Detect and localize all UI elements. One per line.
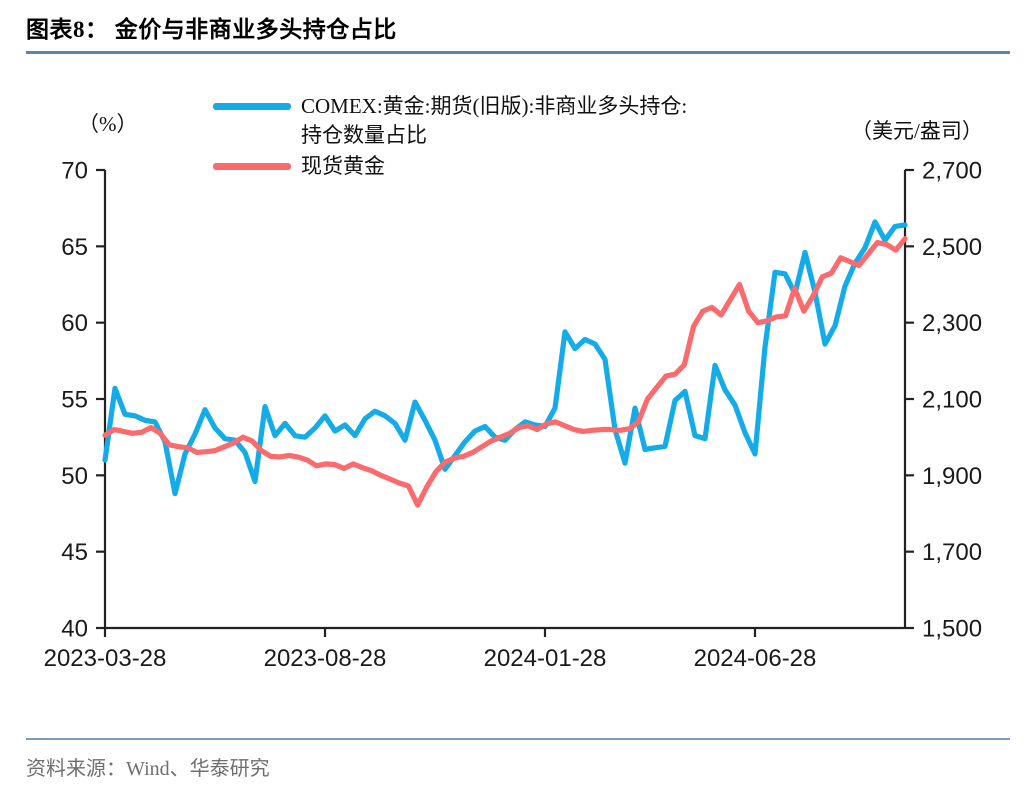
left-axis-tick-label: 55 — [61, 387, 88, 414]
left-axis-tick-label: 60 — [61, 310, 88, 337]
chart-header: 图表8： 金价与非商业多头持仓占比 — [26, 10, 1010, 54]
right-axis-tick-label: 1,500 — [922, 616, 982, 643]
series-line — [105, 222, 905, 494]
x-axis-tick-label: 2023-08-28 — [264, 645, 387, 672]
chart-plot-area: （%） （美元/盎司） COMEX:黄金:期货(旧版):非商业多头持仓: 持仓数… — [0, 60, 1036, 680]
page-title: 图表8： 金价与非商业多头持仓占比 — [26, 10, 1010, 44]
left-axis-tick-label: 65 — [61, 234, 88, 261]
x-axis-tick-label: 2024-01-28 — [484, 645, 607, 672]
chart-svg: 404550556065701,5001,7001,9002,1002,3002… — [0, 60, 1036, 680]
footer-divider — [26, 738, 1010, 740]
axis-layer: 404550556065701,5001,7001,9002,1002,3002… — [44, 158, 982, 673]
left-axis-tick-label: 70 — [61, 158, 88, 185]
series-layer — [105, 222, 905, 505]
right-axis-tick-label: 2,500 — [922, 234, 982, 261]
right-axis-tick-label: 2,700 — [922, 158, 982, 185]
source-note: 资料来源：Wind、华泰研究 — [26, 752, 270, 781]
x-axis-tick-label: 2024-06-28 — [694, 645, 817, 672]
left-axis-tick-label: 50 — [61, 463, 88, 490]
right-axis-tick-label: 2,100 — [922, 387, 982, 414]
right-axis-tick-label: 1,900 — [922, 463, 982, 490]
title-divider — [26, 51, 1010, 54]
left-axis-tick-label: 40 — [61, 616, 88, 643]
right-axis-tick-label: 1,700 — [922, 539, 982, 566]
x-axis-tick-label: 2023-03-28 — [44, 645, 167, 672]
left-axis-tick-label: 45 — [61, 539, 88, 566]
right-axis-tick-label: 2,300 — [922, 310, 982, 337]
